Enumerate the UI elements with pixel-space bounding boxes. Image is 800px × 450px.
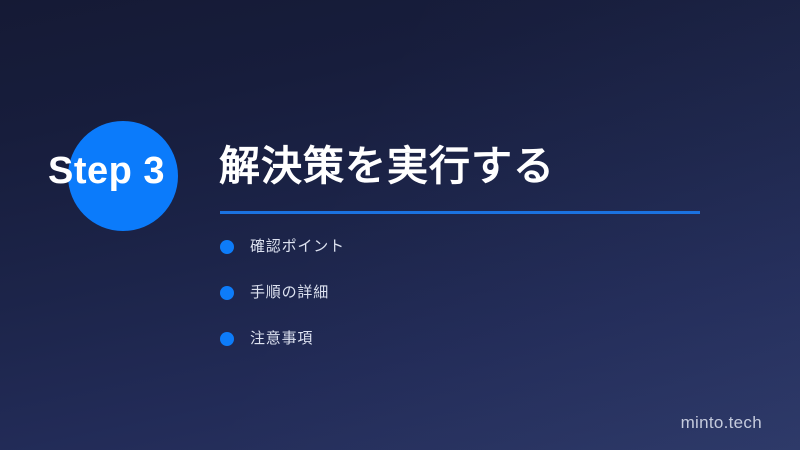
list-item: 確認ポイント	[220, 238, 345, 284]
footer-branding: minto.tech	[681, 413, 762, 433]
step-badge-label: Step 3	[48, 148, 165, 194]
bullet-dot-icon	[220, 332, 234, 346]
bullet-list: 確認ポイント 手順の詳細 注意事項	[220, 238, 345, 376]
bullet-dot-icon	[220, 240, 234, 254]
bullet-item-label: 手順の詳細	[250, 284, 329, 302]
slide-title: 解決策を実行する	[219, 140, 555, 192]
presentation-slide: Step 3 解決策を実行する 確認ポイント 手順の詳細 注意事項 minto.…	[0, 0, 800, 450]
list-item: 注意事項	[220, 330, 345, 376]
title-divider	[220, 211, 700, 214]
bullet-item-label: 注意事項	[250, 330, 313, 348]
list-item: 手順の詳細	[220, 284, 345, 330]
bullet-dot-icon	[220, 286, 234, 300]
bullet-item-label: 確認ポイント	[250, 238, 345, 256]
